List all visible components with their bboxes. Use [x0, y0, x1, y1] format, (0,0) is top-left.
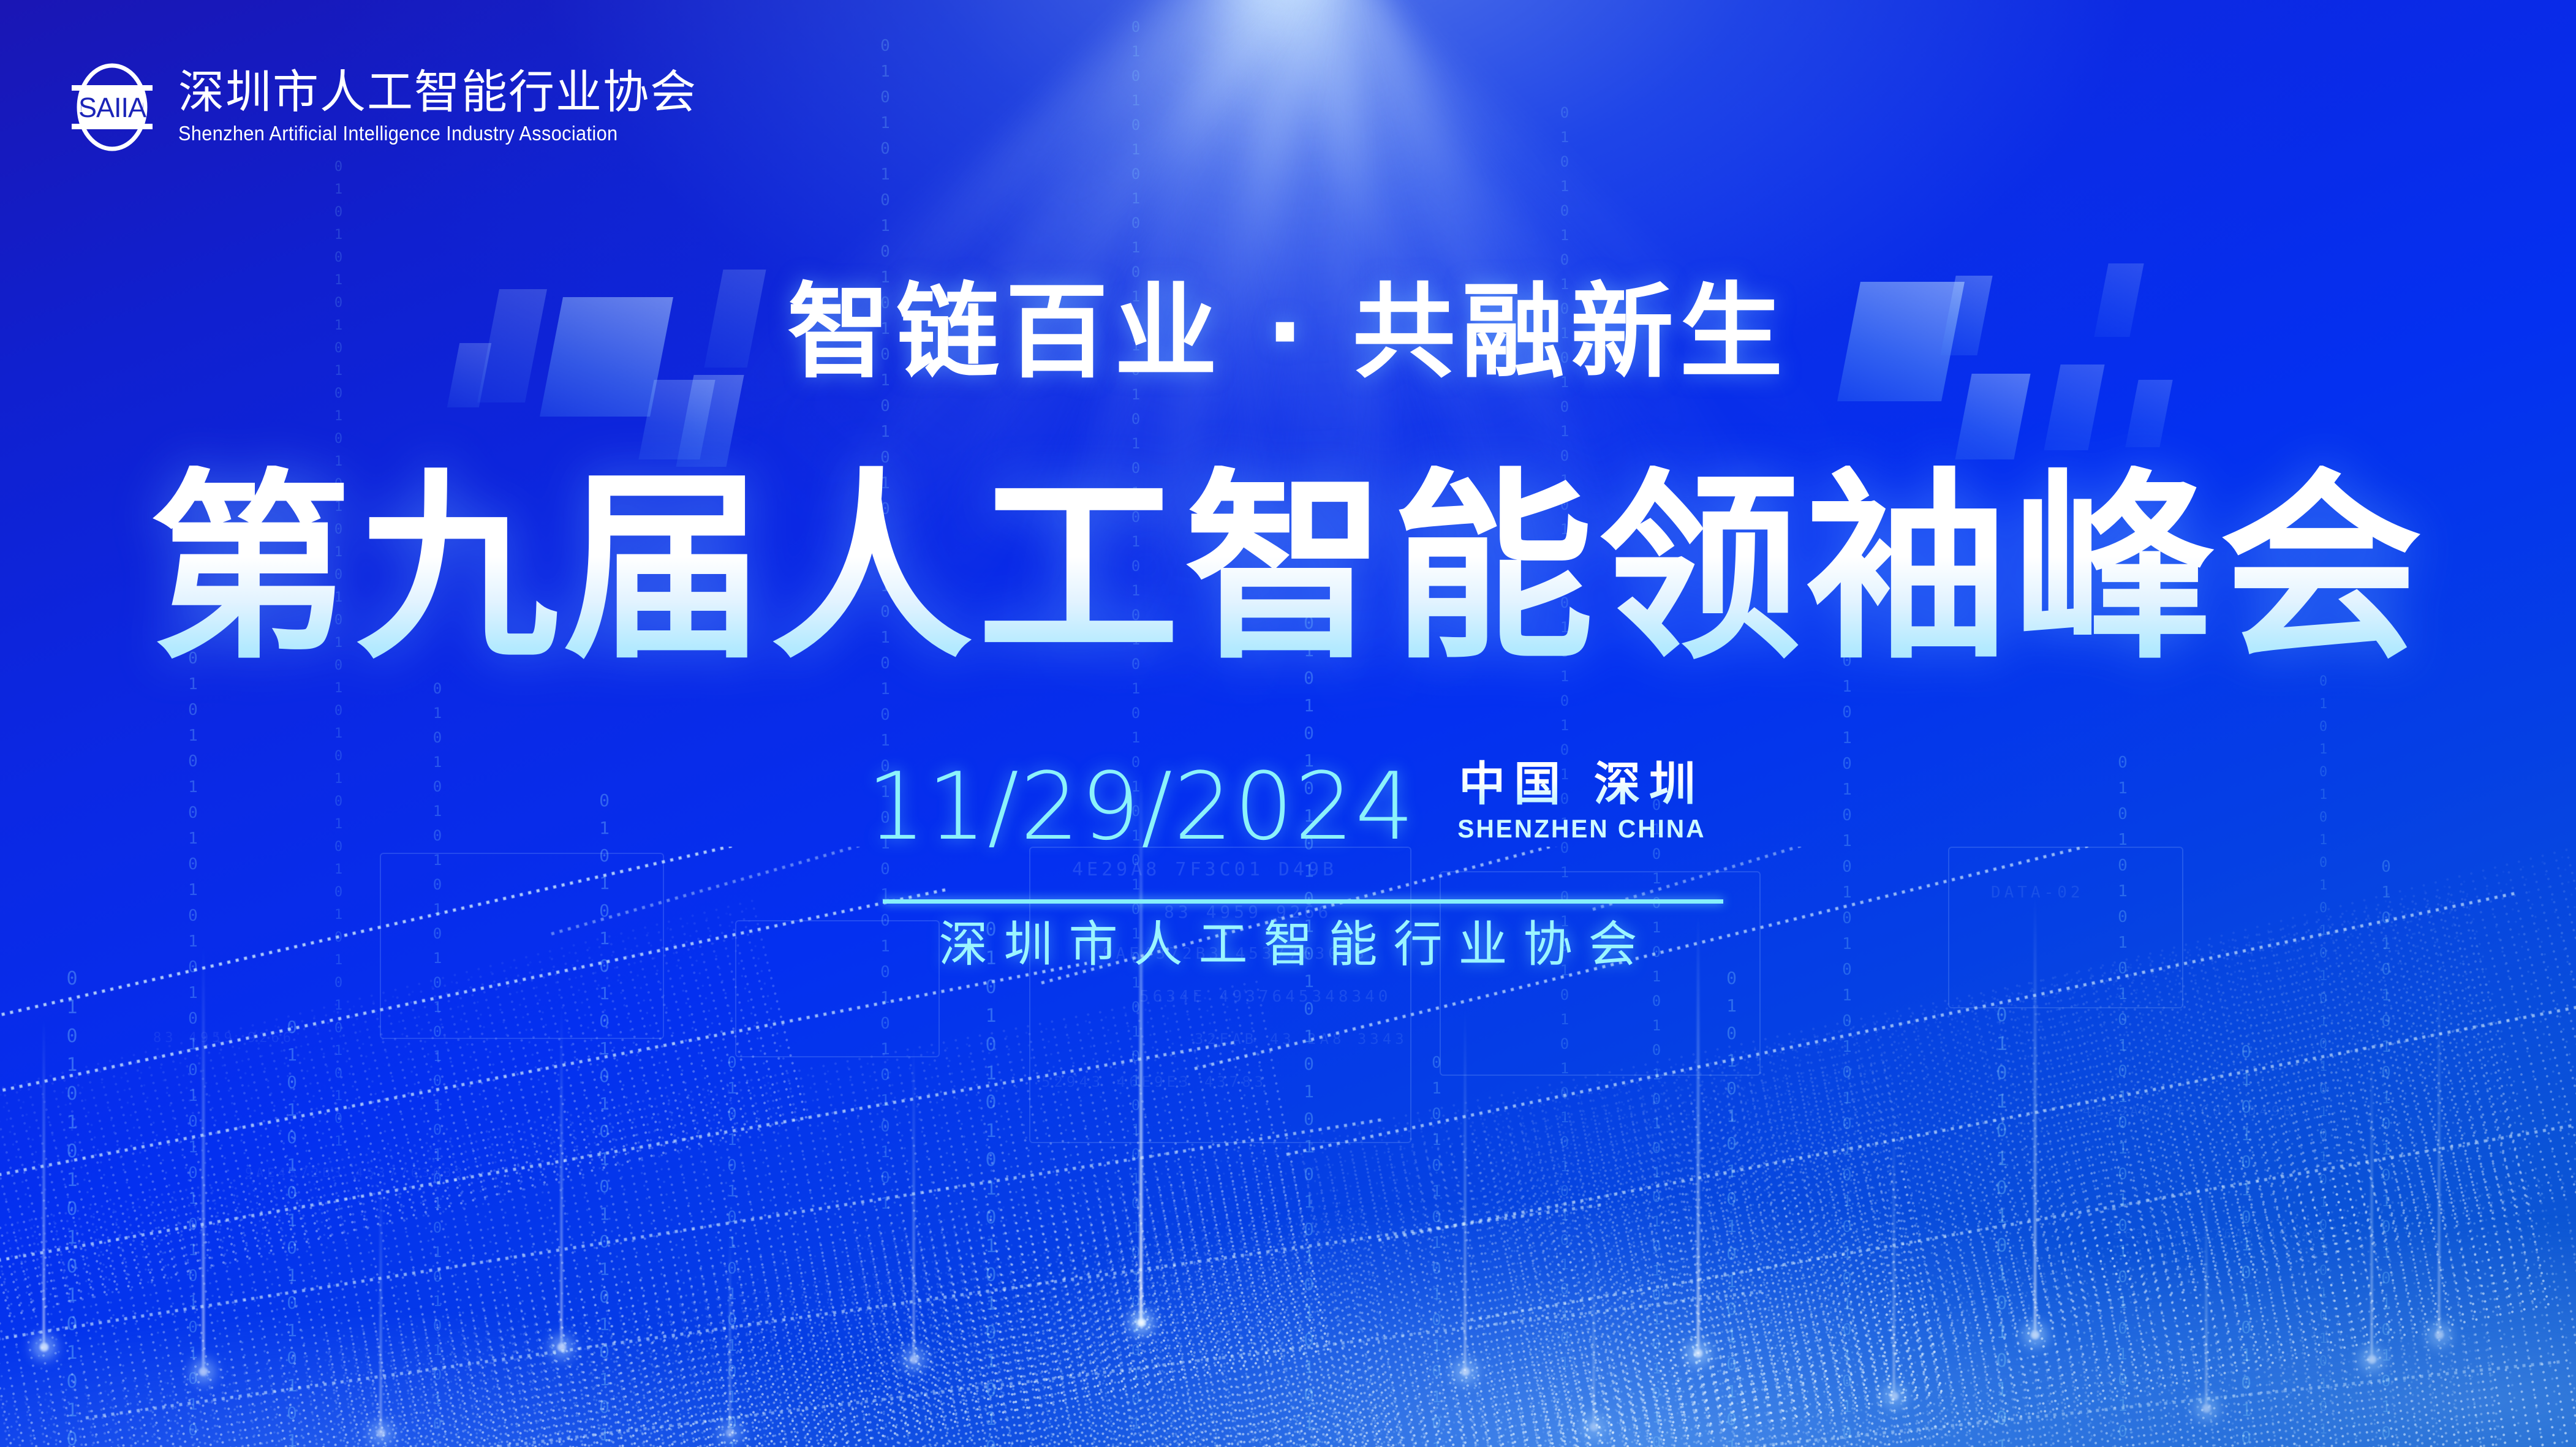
event-poster: 4E29A8 7F3C01 D49B83 4959 92669AE4372B3 …	[0, 0, 2576, 1447]
light-pillars	[0, 0, 2576, 1447]
light-pillar	[913, 1041, 915, 1360]
light-pillar	[561, 1005, 562, 1348]
light-pillar	[1893, 1103, 1895, 1397]
saiia-logo-icon: SAIIA	[63, 58, 161, 156]
light-pillar	[1697, 913, 1699, 1354]
light-pillar	[2205, 1176, 2207, 1409]
svg-text:SAIIA: SAIIA	[78, 92, 146, 123]
location-cn: 中国 深圳	[1459, 760, 1704, 809]
event-location: 中国 深圳 SHENZHEN CHINA	[1454, 760, 1710, 850]
logo-name-cn: 深圳市人工智能行业协会	[178, 69, 697, 116]
event-title: 第九届人工智能领袖峰会	[0, 466, 2576, 672]
light-pillar	[1593, 1244, 1595, 1427]
event-subtitle: 智链百业 · 共融新生	[0, 281, 2576, 383]
association-logo-lockup[interactable]: SAIIA 深圳市人工智能行业协会 Shenzhen Artificial In…	[63, 58, 697, 156]
logo-text-block: 深圳市人工智能行业协会 Shenzhen Artificial Intellig…	[178, 69, 697, 146]
organizer-name: 深圳市人工智能行业协会	[0, 918, 2576, 972]
light-pillar	[2371, 1041, 2373, 1360]
light-pillar	[729, 1231, 731, 1434]
logo-name-en: Shenzhen Artificial Intelligence Industr…	[178, 121, 661, 146]
event-date: 11/29/2024	[867, 764, 1416, 850]
location-en: SHENZHEN CHINA	[1457, 814, 1705, 844]
light-pillar	[43, 1017, 45, 1348]
light-pillar	[1464, 1005, 1466, 1372]
event-meta-row: 11/29/2024 中国 深圳 SHENZHEN CHINA	[0, 760, 2576, 850]
light-pillar	[202, 943, 205, 1372]
light-pillar	[2438, 956, 2440, 1336]
section-divider	[883, 899, 1723, 904]
light-pillar	[380, 1176, 382, 1434]
